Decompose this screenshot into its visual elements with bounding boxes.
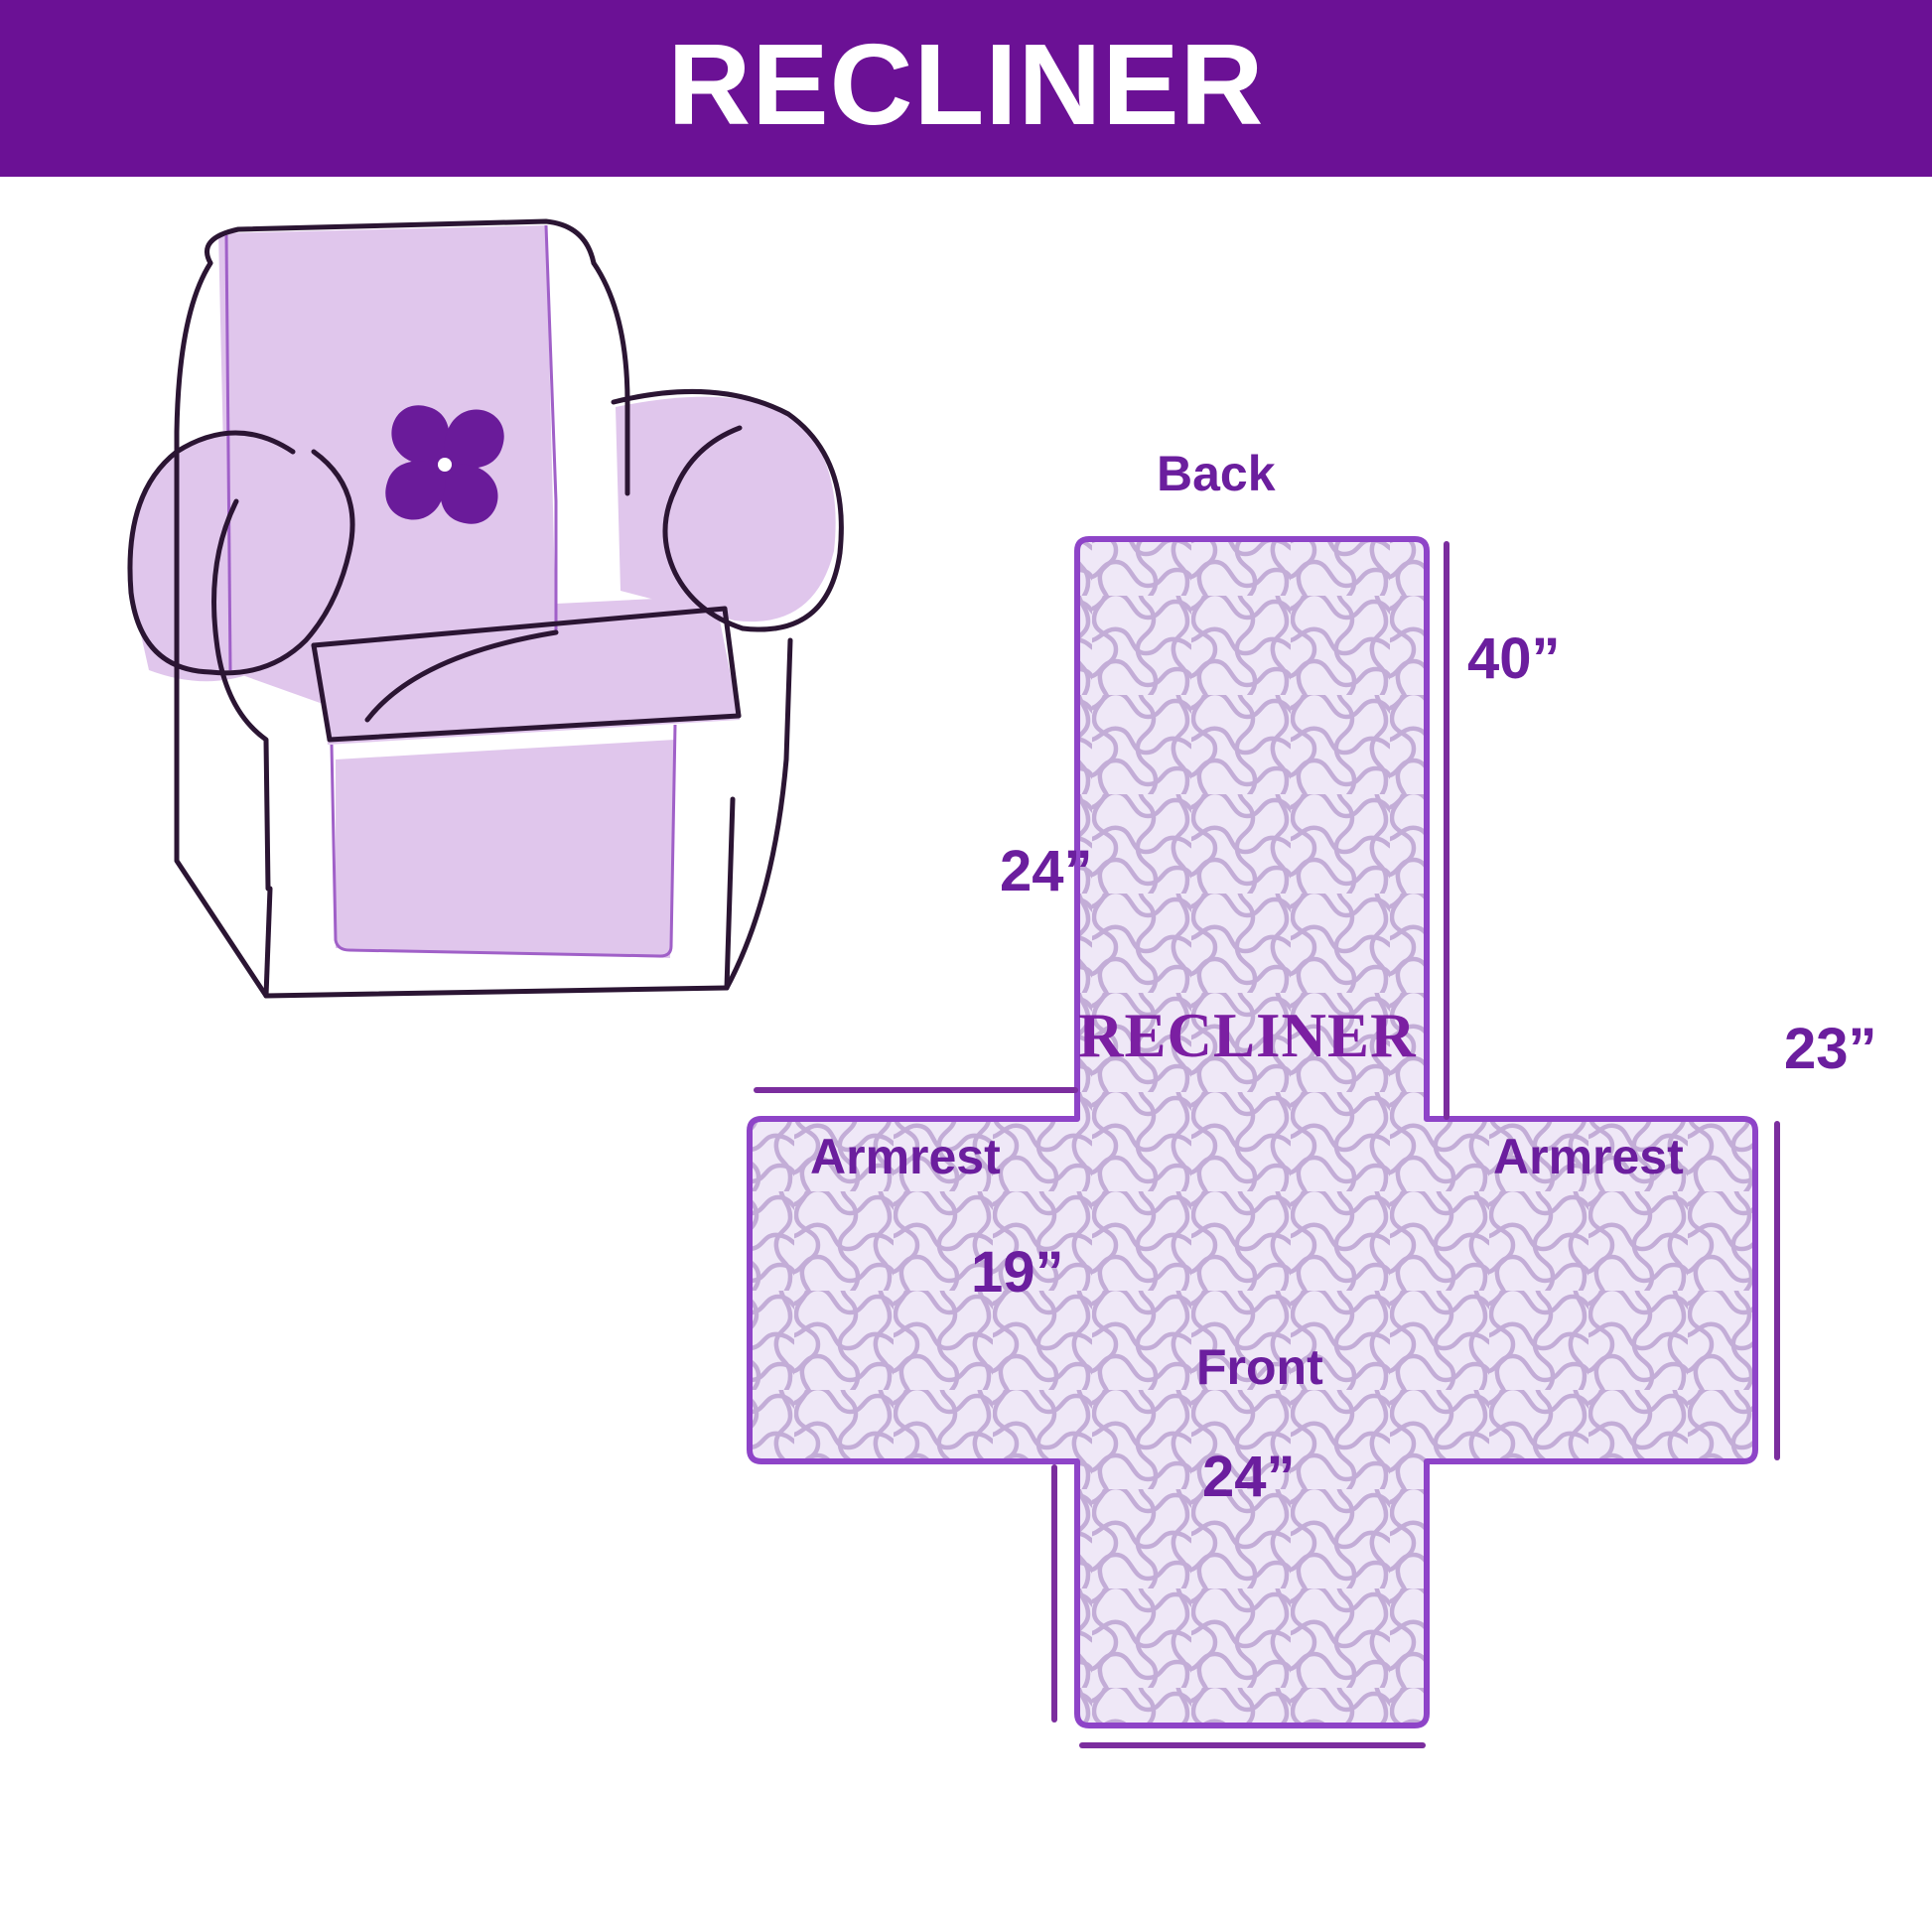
dimension-label-back-height: 40” (1467, 630, 1561, 688)
page-title: RECLINER (668, 27, 1265, 142)
section-label-back: Back (1157, 449, 1276, 498)
fan-pinwheel-icon (385, 405, 503, 523)
chair-seat-cover (318, 596, 740, 745)
dimension-label-front-width: 24” (1202, 1449, 1296, 1506)
section-label-armrest-left: Armrest (810, 1132, 1001, 1181)
dimension-label-armrest-height: 23” (1784, 1021, 1877, 1078)
chair-left-arm-cover (129, 435, 293, 682)
chair-seat-front-cover (336, 740, 675, 958)
section-label-front: Front (1196, 1342, 1323, 1392)
dimension-label-back-width: 24” (1000, 843, 1093, 900)
cover-center-label: RECLINER (1078, 1005, 1417, 1067)
section-label-armrest-right: Armrest (1493, 1132, 1684, 1181)
page-header: RECLINER (0, 0, 1932, 177)
dimension-label-front-height: 19” (971, 1244, 1064, 1302)
page-root: RECLINER .co{fill:none;stroke:#2B1533;st… (0, 0, 1932, 1932)
